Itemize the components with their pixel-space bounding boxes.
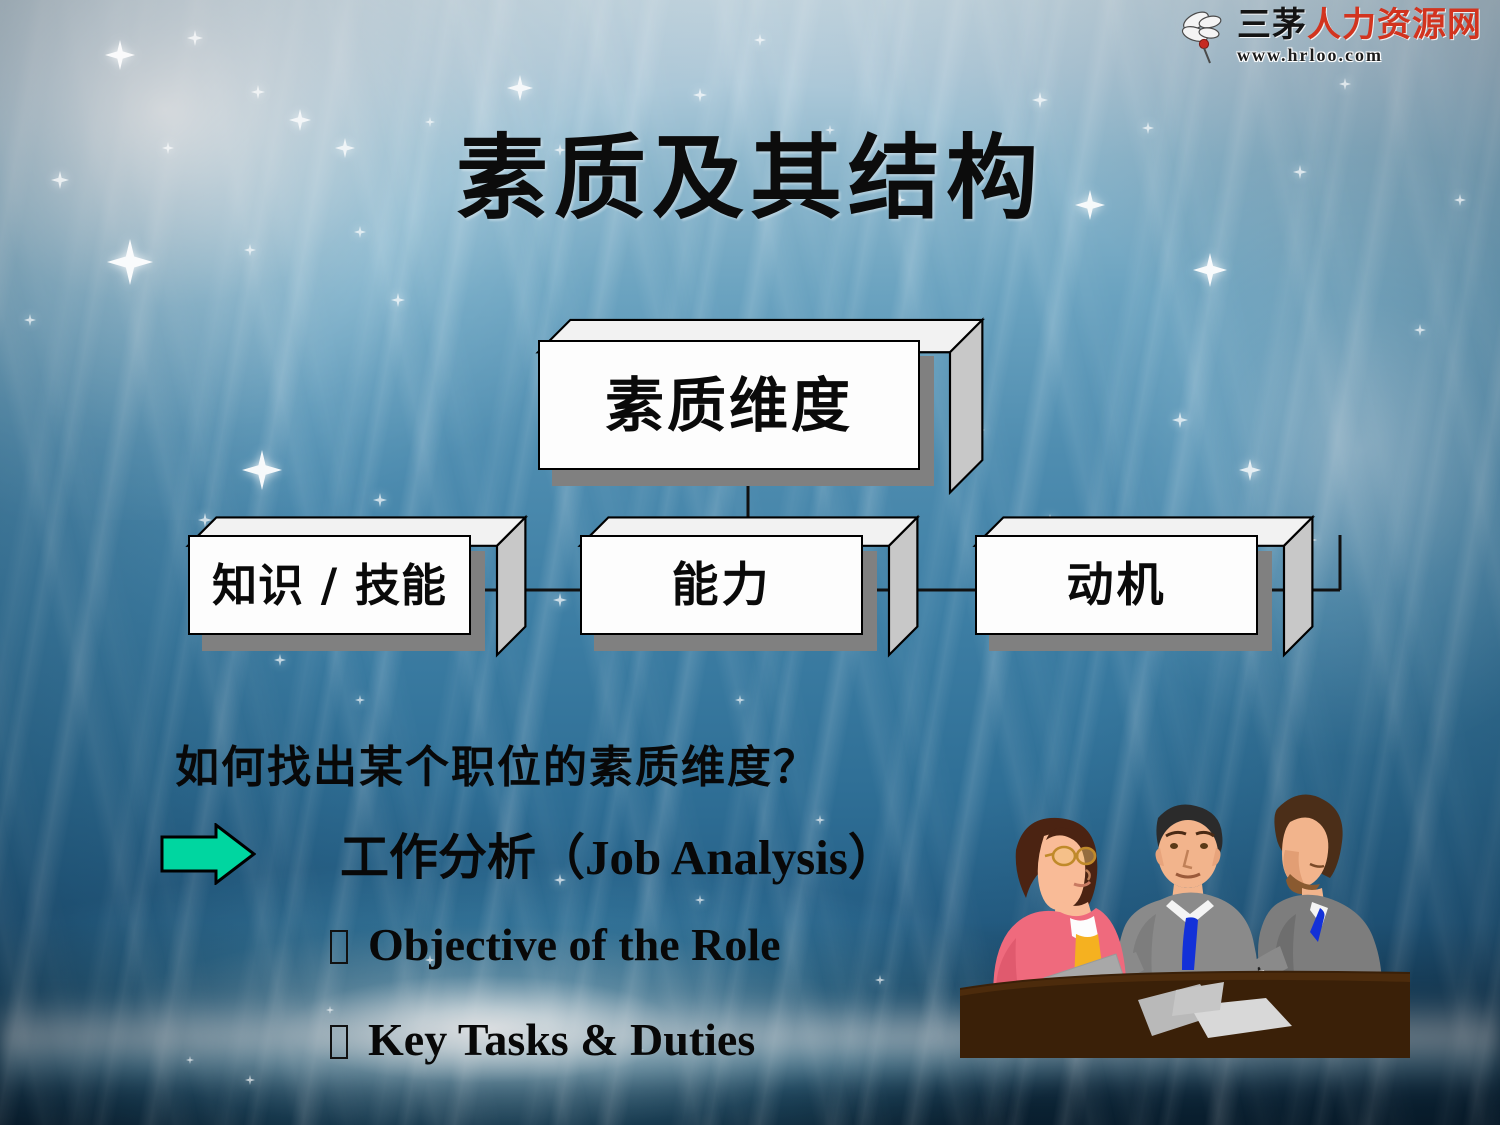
job-analysis-text: 工作分析（Job Analysis） <box>340 818 897 889</box>
logo-brand-red: 人力资源网 <box>1307 5 1482 45</box>
chart-box-knowledge-skills[interactable]: 知识 / 技能 <box>188 535 471 635</box>
chart-box-motivation[interactable]: 动机 <box>975 535 1258 635</box>
competency-org-chart: 素质维度 知识 / 技能 能力 <box>0 300 1500 660</box>
bullet-marker-icon <box>330 1025 348 1059</box>
chart-box-label-0: 知识 / 技能 <box>212 563 447 608</box>
box-front-face: 素质维度 <box>538 340 920 470</box>
box-front-face: 动机 <box>975 535 1258 635</box>
logo-url: www.hrloo.com <box>1237 46 1482 64</box>
bullet-item-0: Objective of the Role <box>330 918 781 971</box>
presentation-slide: 三茅人力资源网 www.hrloo.com 素质及其结构 素质 <box>0 0 1500 1125</box>
bullet-text-1: Key Tasks & Duties <box>368 1014 755 1065</box>
bullet-text-0: Objective of the Role <box>368 919 781 970</box>
chart-box-root[interactable]: 素质维度 <box>538 340 920 470</box>
chart-box-ability[interactable]: 能力 <box>580 535 863 635</box>
site-logo[interactable]: 三茅人力资源网 www.hrloo.com <box>1171 4 1490 68</box>
job-analysis-row: 工作分析（Job Analysis） <box>160 818 897 889</box>
chart-box-label-2: 动机 <box>1067 562 1167 609</box>
question-text: 如何找出某个职位的素质维度？ <box>175 731 819 795</box>
business-meeting-illustration <box>960 778 1410 1068</box>
dragonfly-icon <box>1179 8 1231 64</box>
logo-chinese-text: 三茅人力资源网 <box>1237 8 1482 42</box>
job-analysis-en: Job Analysis <box>585 830 848 885</box>
bullet-marker-icon <box>330 930 348 964</box>
bullet-item-1: Key Tasks & Duties <box>330 1013 755 1066</box>
right-arrow-icon <box>160 823 256 885</box>
slide-title: 素质及其结构 <box>0 104 1500 237</box>
box-front-face: 知识 / 技能 <box>188 535 471 635</box>
chart-box-root-label: 素质维度 <box>605 376 853 435</box>
logo-brand-black: 三茅 <box>1237 5 1307 45</box>
job-analysis-close: ） <box>848 829 897 886</box>
chart-box-label-1: 能力 <box>672 562 772 609</box>
box-front-face: 能力 <box>580 535 863 635</box>
job-analysis-cn: 工作分析（ <box>340 829 585 886</box>
